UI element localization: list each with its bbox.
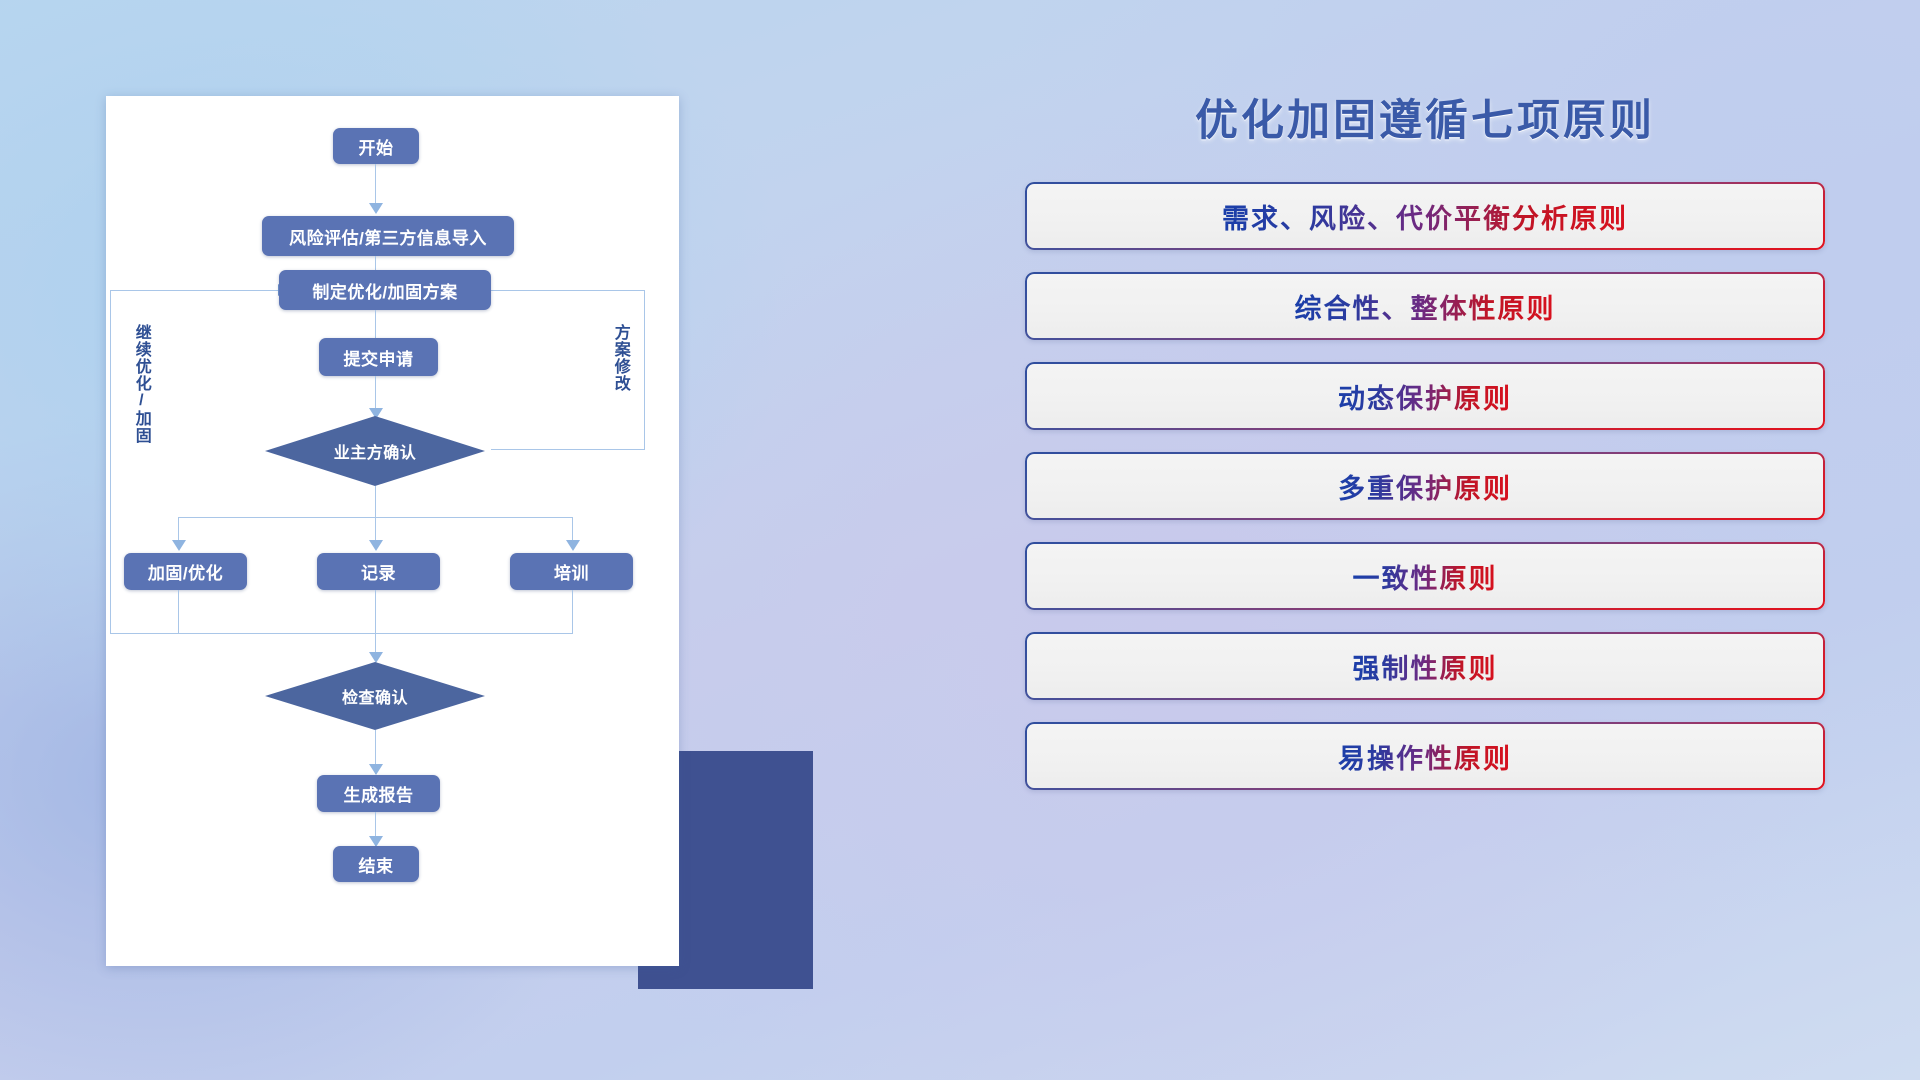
flow-node-record[interactable]: 记录 [317, 553, 440, 590]
loop-left-top [110, 290, 280, 291]
edge-label-left: 继续优化/加固 [132, 324, 149, 444]
principle-card[interactable]: 综合性、整体性原则 [1025, 272, 1825, 340]
connector-record-down [375, 590, 376, 660]
flow-node-owner-confirm[interactable]: 业主方确认 [265, 416, 485, 486]
flow-node-start[interactable]: 开始 [333, 128, 419, 164]
principle-card[interactable]: 一致性原则 [1025, 542, 1825, 610]
principle-label: 易操作性原则 [1338, 737, 1512, 776]
flow-node-submit-application[interactable]: 提交申请 [319, 338, 438, 376]
flow-node-label: 开始 [359, 134, 394, 159]
arrow-start-risk [369, 203, 383, 214]
page-title: 优化加固遵循七项原则 [1025, 86, 1825, 148]
loop-right-vertical [644, 290, 645, 450]
flow-node-label: 生成报告 [344, 781, 414, 806]
arrow-to-record [369, 540, 383, 551]
flow-node-make-plan[interactable]: 制定优化/加固方案 [279, 270, 491, 310]
principles-panel: 优化加固遵循七项原则 需求、风险、代价平衡分析原则 综合性、整体性原则 动态保护… [1025, 86, 1825, 812]
loop-right-top [490, 290, 645, 291]
connector-owner-down [375, 486, 376, 518]
edge-label-right: 方案修改 [611, 324, 628, 392]
arrow-check-report [369, 764, 383, 775]
principle-card[interactable]: 需求、风险、代价平衡分析原则 [1025, 182, 1825, 250]
flow-node-label: 制定优化/加固方案 [312, 278, 457, 303]
flow-node-label: 提交申请 [344, 345, 414, 370]
arrow-to-train [566, 540, 580, 551]
slide-root: 继续优化/加固 方案修改 开始 风险评估/第三方信息导入 制定优化/加固方案 提… [0, 0, 1920, 1080]
principle-card[interactable]: 强制性原则 [1025, 632, 1825, 700]
flow-node-check-confirm[interactable]: 检查确认 [265, 662, 485, 730]
loop-left-vertical [110, 290, 111, 634]
flow-node-reinforce-optimize[interactable]: 加固/优化 [124, 553, 247, 590]
principle-card[interactable]: 易操作性原则 [1025, 722, 1825, 790]
flow-node-training[interactable]: 培训 [510, 553, 633, 590]
flow-node-label: 结束 [359, 852, 394, 877]
principle-label: 综合性、整体性原则 [1295, 287, 1556, 326]
connector-train-down [572, 590, 573, 634]
loop-right-bottom [491, 449, 645, 450]
principle-label: 需求、风险、代价平衡分析原则 [1222, 197, 1628, 236]
flow-node-generate-report[interactable]: 生成报告 [317, 775, 440, 812]
principle-label: 多重保护原则 [1338, 467, 1512, 506]
connector-start-risk [375, 164, 376, 206]
principle-label: 强制性原则 [1353, 647, 1498, 686]
flow-node-end[interactable]: 结束 [333, 846, 419, 882]
principle-label: 一致性原则 [1353, 557, 1498, 596]
flow-node-label: 风险评估/第三方信息导入 [289, 224, 487, 249]
connector-reinforce-down [178, 590, 179, 634]
arrow-to-reinforce [172, 540, 186, 551]
flow-node-label: 加固/优化 [148, 559, 223, 584]
principle-label: 动态保护原则 [1338, 377, 1512, 416]
flow-node-risk-assessment[interactable]: 风险评估/第三方信息导入 [262, 216, 514, 256]
principle-card[interactable]: 多重保护原则 [1025, 452, 1825, 520]
flow-node-label: 培训 [554, 559, 589, 584]
connector-fanin-bar [178, 633, 573, 634]
flowchart-panel: 继续优化/加固 方案修改 开始 风险评估/第三方信息导入 制定优化/加固方案 提… [106, 96, 679, 966]
principle-card[interactable]: 动态保护原则 [1025, 362, 1825, 430]
flow-node-label: 记录 [361, 559, 396, 584]
